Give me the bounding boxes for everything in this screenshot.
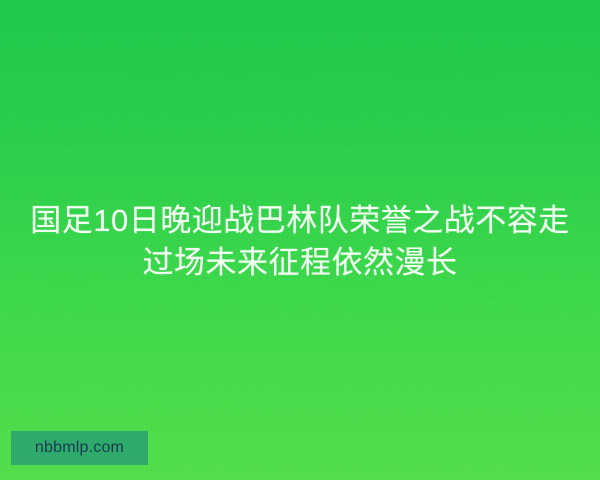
headline-text: 国足10日晚迎战巴林队荣誉之战不容走 过场未来征程依然漫长 [0,200,600,284]
watermark-label: nbbmlp.com [35,440,124,456]
headline-line-2: 过场未来征程依然漫长 [0,242,600,284]
watermark-badge: nbbmlp.com [11,431,148,465]
image-canvas: 国足10日晚迎战巴林队荣誉之战不容走 过场未来征程依然漫长 nbbmlp.com [0,0,600,480]
headline-line-1: 国足10日晚迎战巴林队荣誉之战不容走 [0,200,600,242]
